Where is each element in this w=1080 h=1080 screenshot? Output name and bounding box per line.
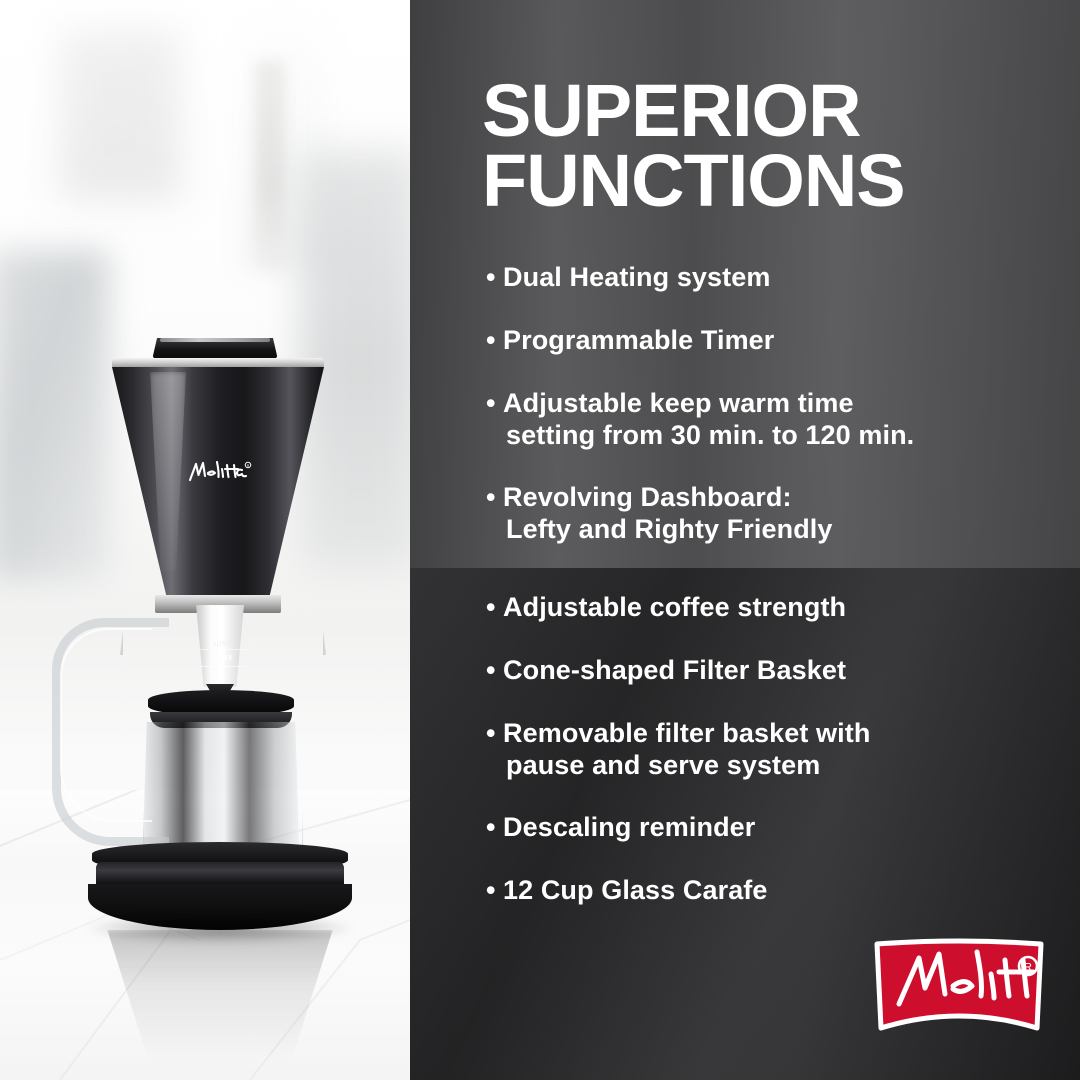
feature-list-upper: • Dual Heating system • Programmable Tim… [486,262,1066,546]
product-reflection [92,930,348,1060]
bullet-icon: • [486,875,496,907]
lid-highlight [160,338,270,342]
feature-text-line-1: Removable filter basket with [503,718,870,748]
product-feature-graphic: R max max [0,0,1080,1080]
features-panel: SUPERIOR FUNCTIONS • Dual Heating system… [410,0,1080,1080]
feature-item: • Adjustable keep warm time setting from… [486,388,1066,452]
product-photo: R max max [0,0,410,1080]
carafe-max-label: max [204,652,242,665]
melitta-script-icon: R [186,458,252,484]
bullet-icon: • [486,388,496,420]
feature-text-line-1: Adjustable coffee strength [503,592,846,622]
bullet-icon: • [486,718,496,750]
melitta-logo-icon: R [873,938,1045,1034]
carafe-marking-line-lower [200,666,246,667]
feature-text-line-1: Descaling reminder [503,812,755,842]
bullet-icon: • [486,655,496,687]
feature-text-line-1: Programmable Timer [503,325,774,355]
feature-item: • Descaling reminder [486,812,1066,844]
registered-trademark-letter: R [1024,962,1032,974]
feature-text-line-1: Adjustable keep warm time [503,388,854,418]
bullet-icon: • [486,262,496,294]
feature-text-line-2: pause and serve system [503,750,1066,782]
page-title: SUPERIOR FUNCTIONS [482,76,1072,217]
page-title-line-2: FUNCTIONS [482,146,1072,216]
product-brand-mark: R [186,458,252,484]
feature-item: • 12 Cup Glass Carafe [486,875,1066,907]
carafe-marking-line-upper [200,649,246,650]
feature-item: • Programmable Timer [486,325,1066,357]
bullet-icon: • [486,592,496,624]
feature-item: • Adjustable coffee strength [486,592,1066,624]
feature-list-lower: • Adjustable coffee strength • Cone-shap… [486,592,1066,907]
coffee-maker: R max max [0,0,410,1080]
feature-text-line-2: setting from 30 min. to 120 min. [503,420,1066,452]
feature-text-line-1: Dual Heating system [503,262,770,292]
feature-item: • Removable filter basket with pause and… [486,718,1066,782]
carafe-max-label-reflection: max [206,637,240,649]
bullet-icon: • [486,812,496,844]
page-title-line-1: SUPERIOR [482,76,1072,146]
feature-item: • Revolving Dashboard: Lefty and Righty … [486,482,1066,546]
feature-item: • Dual Heating system [486,262,1066,294]
feature-text-line-1: Cone-shaped Filter Basket [503,655,846,685]
bullet-icon: • [486,325,496,357]
feature-text-line-1: 12 Cup Glass Carafe [503,875,768,905]
feature-text-line-2: Lefty and Righty Friendly [503,514,1066,546]
carafe-handle-highlight [60,628,152,822]
bullet-icon: • [486,482,496,514]
feature-item: • Cone-shaped Filter Basket [486,655,1066,687]
feature-text-line-1: Revolving Dashboard: [503,482,792,512]
melitta-logo: R [873,938,1045,1034]
